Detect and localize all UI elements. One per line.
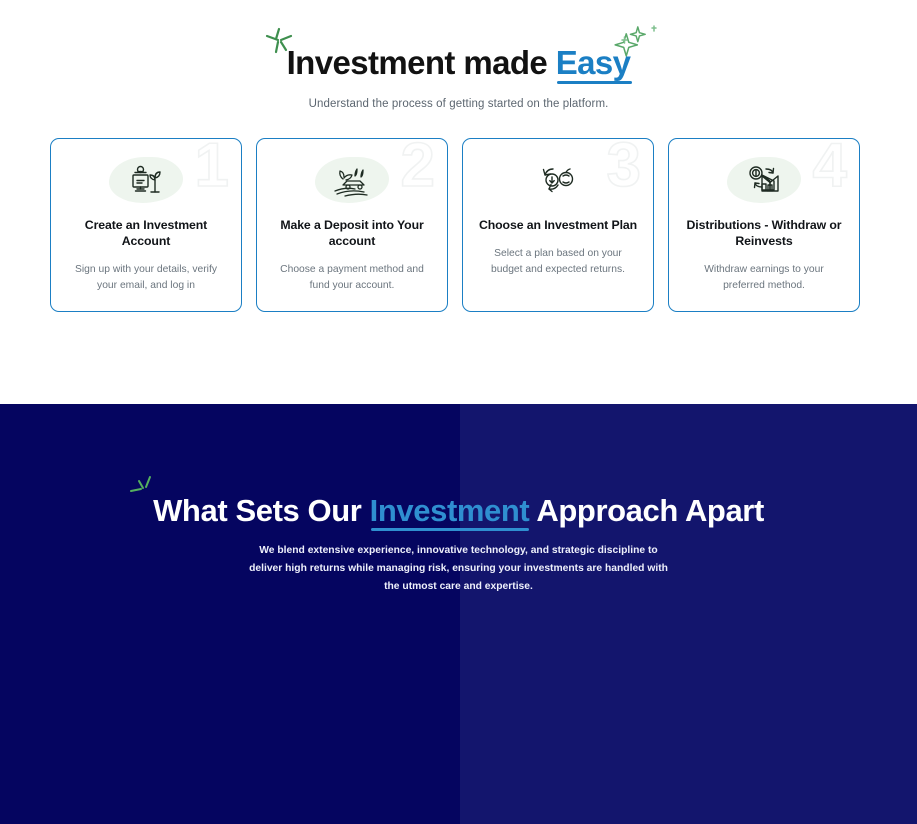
step-card-4[interactable]: 4 xyxy=(668,138,860,312)
step-card-desc: Sign up with your details, verify your e… xyxy=(65,262,227,294)
page-title-accent: Easy xyxy=(556,44,631,82)
farmer-computer-icon xyxy=(109,157,183,203)
step-number-watermark: 1 xyxy=(195,138,229,197)
section-title-accent: Investment xyxy=(370,494,530,528)
section-title-part1: What Sets Our xyxy=(153,493,370,528)
step-card-3[interactable]: 3 Choose an In xyxy=(462,138,654,312)
step-card-title: Choose an Investment Plan xyxy=(477,217,639,233)
value-proposition-section: What Sets Our Investment Approach Apart … xyxy=(0,404,917,824)
hero-heading-block: Investment made Easy Understand the proc… xyxy=(0,0,917,110)
farm-field-icon xyxy=(315,157,389,203)
step-card-title: Make a Deposit into Your account xyxy=(271,217,433,249)
step-card-title: Distributions - Withdraw or Reinvests xyxy=(683,217,845,249)
step-card-desc: Withdraw earnings to your preferred meth… xyxy=(683,262,845,294)
step-number-watermark: 4 xyxy=(813,138,847,197)
section-subtitle: We blend extensive experience, innovativ… xyxy=(249,542,669,595)
step-card-desc: Select a plan based on your budget and e… xyxy=(477,246,639,278)
step-card-desc: Choose a payment method and fund your ac… xyxy=(271,262,433,294)
steps-card-list: 1 xyxy=(50,138,860,312)
step-card-2[interactable]: 2 Make a Deposit into Your xyxy=(256,138,448,312)
step-number-watermark: 3 xyxy=(607,138,641,197)
page-title-main: Investment made xyxy=(287,44,556,81)
coin-recycle-icon xyxy=(521,157,595,203)
how-it-works-section: Investment made Easy Understand the proc… xyxy=(0,0,917,404)
green-sparkle-icon xyxy=(128,473,164,505)
hero-subtitle: Understand the process of getting starte… xyxy=(0,98,917,110)
section-title: What Sets Our Investment Approach Apart xyxy=(153,494,764,528)
coin-house-exchange-icon xyxy=(727,157,801,203)
step-number-watermark: 2 xyxy=(401,138,435,197)
section-title-part2: Approach Apart xyxy=(529,493,764,528)
step-card-1[interactable]: 1 xyxy=(50,138,242,312)
page-title: Investment made Easy xyxy=(287,44,631,82)
step-card-title: Create an Investment Account xyxy=(65,217,227,249)
